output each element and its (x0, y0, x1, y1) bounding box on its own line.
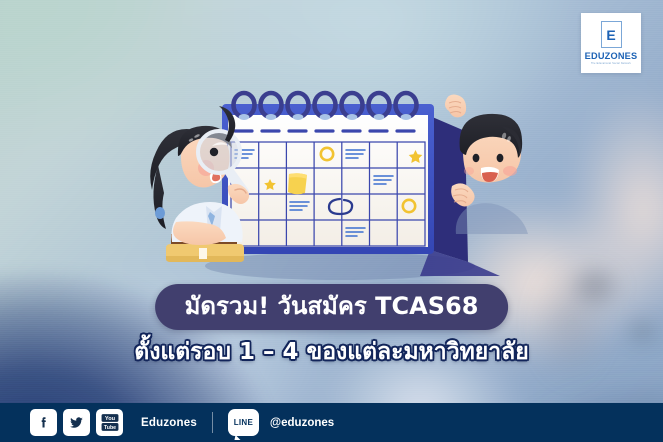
youtube-icon[interactable]: You Tube (96, 409, 123, 436)
logo-mark-box: E (601, 21, 622, 48)
logo-tagline: The Educational Social Network (591, 63, 631, 66)
subtitle-text: ตั้งแต่รอบ 1 – 4 ของแต่ละมหาวิทยาลัย (134, 338, 528, 368)
line-handle-label: @eduzones (270, 417, 334, 429)
calendar-page (228, 115, 428, 247)
svg-text:You: You (104, 416, 115, 422)
line-icon-label: LINE (234, 418, 253, 427)
boy-eye-right (497, 154, 504, 162)
facebook-icon[interactable] (30, 409, 57, 436)
character-girl-with-magnifier (150, 106, 249, 262)
footer-bar: You Tube Eduzones LINE @eduzones (0, 403, 663, 442)
girl-hair-tie (155, 207, 165, 219)
line-icon[interactable]: LINE (228, 409, 259, 436)
boy-eye-left (473, 154, 480, 162)
headline-badge: มัดรวม! วันสมัคร TCAS68 (155, 284, 509, 330)
svg-text:Tube: Tube (103, 425, 115, 431)
twitter-icon[interactable] (63, 409, 90, 436)
girl-hair-back (153, 165, 166, 229)
logo-wordmark: EDUZONES (585, 51, 638, 61)
boy-blush-right (503, 166, 517, 176)
calendar-illustration (0, 0, 663, 300)
girl-eye-magnified (210, 148, 218, 156)
eduzones-logo: E EDUZONES The Educational Social Networ… (581, 13, 641, 73)
footer-divider (212, 412, 213, 433)
logo-mark-letter: E (606, 28, 615, 42)
brand-handle-label: Eduzones (141, 417, 197, 429)
poster-canvas: E EDUZONES The Educational Social Networ… (0, 0, 663, 442)
boy-blush-left (464, 167, 474, 175)
